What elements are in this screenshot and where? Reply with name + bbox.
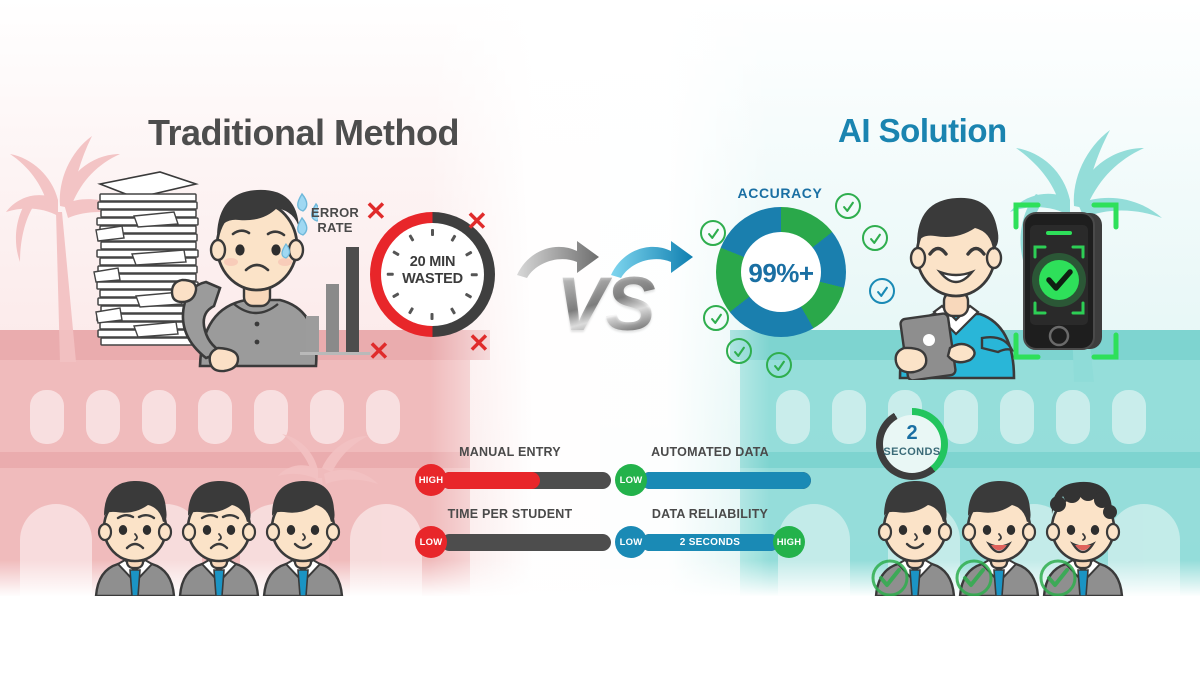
check-badge-icon [766, 352, 792, 378]
clock-text-line1: 20 MIN [370, 254, 495, 271]
metric-track[interactable] [641, 472, 811, 489]
clock-text-line2: WASTED [370, 271, 495, 288]
metric-title: AUTOMATED DATA [615, 445, 805, 459]
list-item [1036, 478, 1130, 601]
x-mark-icon: ✕ [365, 198, 387, 224]
metric-row: LOW [615, 464, 805, 496]
error-rate-label-line1: ERROR [296, 205, 374, 220]
metric-time-per-student: TIME PER STUDENT LOW [415, 507, 605, 559]
metric-row: LOW 2 SECONDS HIGH [615, 526, 805, 558]
student-avatar [172, 478, 266, 596]
clock-text: 20 MIN WASTED [370, 254, 495, 288]
metric-left-pill[interactable]: LOW [415, 526, 447, 558]
page-title-traditional: Traditional Method [148, 112, 459, 154]
metric-track[interactable] [441, 534, 611, 551]
infographic-canvas: Traditional Method AI Solution [0, 0, 1200, 675]
metrics-panel: MANUAL ENTRY HIGH AUTOMATED DATA LOW TIM… [415, 445, 805, 560]
stressed-teacher-illustration [88, 168, 318, 378]
page-title-ai: AI Solution [838, 112, 1007, 150]
metric-track[interactable] [441, 472, 611, 489]
metric-title: MANUAL ENTRY [415, 445, 605, 459]
students-group-ai [868, 478, 1118, 596]
error-rate-chart: ERROR RATE [300, 205, 370, 360]
check-badge-icon [835, 193, 861, 219]
accuracy-value: 99%+ [716, 258, 846, 289]
metric-data-reliability: DATA RELIABILITY LOW 2 SECONDS HIGH [615, 507, 805, 559]
metric-automated-data: AUTOMATED DATA LOW [615, 445, 805, 497]
error-rate-bar [326, 284, 339, 352]
check-badge-icon [703, 305, 729, 331]
metric-row: HIGH [415, 464, 605, 496]
error-rate-bar [306, 316, 319, 352]
error-rate-label: ERROR RATE [296, 205, 374, 235]
metric-title: DATA RELIABILITY [615, 507, 805, 521]
metric-left-pill[interactable]: HIGH [415, 464, 447, 496]
metric-title: TIME PER STUDENT [415, 507, 605, 521]
student-avatar [868, 478, 962, 596]
metric-fill [641, 472, 811, 489]
error-rate-axis [300, 352, 370, 355]
list-item [88, 478, 182, 601]
metric-fill [441, 472, 540, 489]
list-item [868, 478, 962, 601]
metric-manual-entry: MANUAL ENTRY HIGH [415, 445, 605, 497]
student-avatar [256, 478, 350, 596]
check-badge-icon [700, 220, 726, 246]
metric-left-pill[interactable]: LOW [615, 464, 647, 496]
seconds-gauge-number: 2 [876, 422, 948, 445]
list-item [172, 478, 266, 601]
metric-track-label: 2 SECONDS [641, 534, 779, 551]
bottom-white-band [0, 596, 1200, 675]
student-avatar [1036, 478, 1130, 596]
clock-tick [431, 313, 434, 320]
metric-track[interactable]: 2 SECONDS [641, 534, 779, 551]
list-item [952, 478, 1046, 601]
versus-label: VS [515, 261, 695, 348]
students-group-traditional [88, 478, 338, 596]
clock-tick [431, 229, 434, 236]
x-mark-icon: ✕ [468, 330, 490, 356]
versus-block: VS [515, 235, 695, 355]
student-avatar [952, 478, 1046, 596]
x-mark-icon: ✕ [368, 338, 390, 364]
check-badge-icon [726, 338, 752, 364]
student-avatar [88, 478, 182, 596]
list-item [256, 478, 350, 601]
error-rate-label-line2: RATE [296, 220, 374, 235]
error-rate-bar [346, 247, 359, 352]
metric-row: LOW [415, 526, 605, 558]
seconds-gauge-unit: SECONDS [876, 446, 948, 458]
seconds-gauge: 2 SECONDS [876, 408, 948, 480]
x-mark-icon: ✕ [466, 208, 488, 234]
phone-scanner-illustration [1010, 195, 1122, 367]
